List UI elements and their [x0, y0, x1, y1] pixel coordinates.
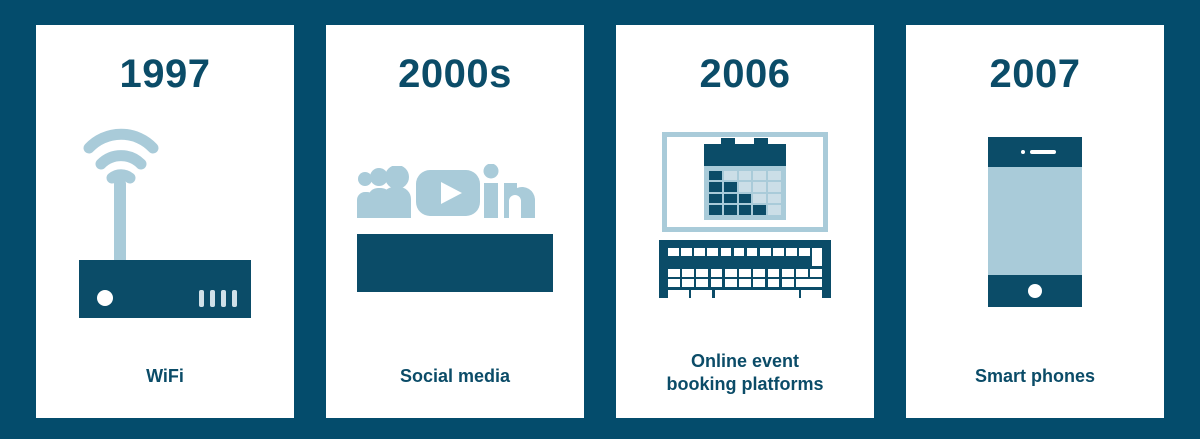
- card-caption: Social media: [388, 365, 522, 418]
- home-button-icon[interactable]: [1028, 284, 1042, 298]
- router-antenna: [114, 178, 126, 266]
- router-body: [79, 260, 251, 318]
- calendar-body: [704, 166, 786, 220]
- smartphone-icon: [906, 94, 1164, 365]
- card-year: 2000s: [398, 54, 512, 94]
- card-caption: WiFi: [134, 365, 196, 418]
- timeline-card-1997[interactable]: 1997 WiFi: [36, 25, 294, 418]
- wifi-router-icon: [36, 94, 294, 365]
- phone-bottom-bezel: [988, 275, 1082, 307]
- laptop-screen: [662, 132, 828, 232]
- card-year: 2007: [990, 54, 1081, 94]
- card-year: 1997: [120, 54, 211, 94]
- card-caption: Online event booking platforms: [655, 350, 836, 418]
- calendar-header: [704, 144, 786, 166]
- laptop-keyboard: [659, 240, 831, 298]
- timeline-card-2006[interactable]: 2006: [616, 25, 874, 418]
- router-status-led-icon: [97, 290, 113, 306]
- card-year: 2006: [700, 54, 791, 94]
- phone-top-bezel: [988, 137, 1082, 167]
- earpiece-speaker-icon: [1030, 150, 1056, 154]
- timeline-card-2007[interactable]: 2007 Smart phones: [906, 25, 1164, 418]
- calendar-ring-tab: [754, 138, 768, 146]
- social-media-icons: [326, 94, 584, 365]
- linkedin-in-icon: [483, 164, 535, 218]
- phone-screen: [988, 137, 1082, 307]
- timeline-card-2000s[interactable]: 2000s: [326, 25, 584, 418]
- card-caption-line-1: Online event: [691, 351, 799, 371]
- calendar-day-grid: [709, 171, 781, 215]
- card-caption: Smart phones: [963, 365, 1107, 418]
- front-camera-icon: [1021, 150, 1025, 154]
- laptop-calendar-icon: [616, 94, 874, 350]
- router-port-indicators: [199, 290, 237, 307]
- people-group-icon: [357, 166, 413, 218]
- calendar-icon: [704, 144, 786, 220]
- youtube-play-icon: [416, 170, 480, 216]
- social-media-banner-bar: [357, 234, 553, 292]
- card-caption-line-2: booking platforms: [667, 374, 824, 394]
- technology-timeline: 1997 WiFi 2000s: [0, 0, 1200, 439]
- calendar-ring-tab: [721, 138, 735, 146]
